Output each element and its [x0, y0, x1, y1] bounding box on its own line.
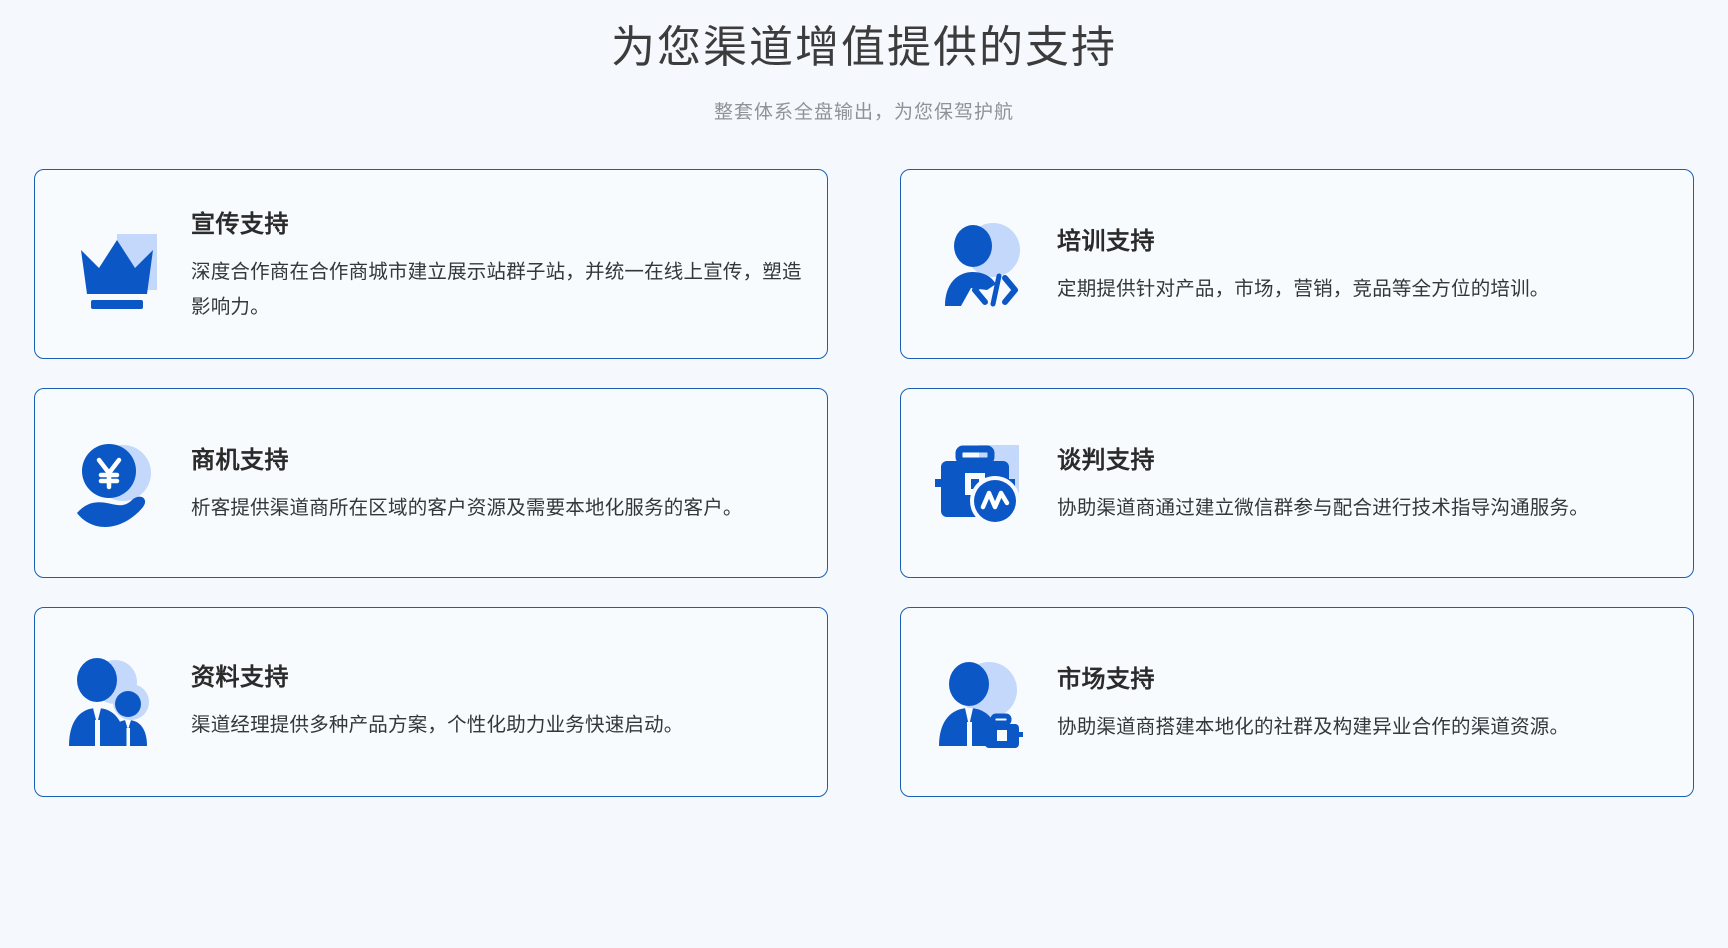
briefcase-chart-icon: [923, 428, 1043, 538]
card-description: 析客提供渠道商所在区域的客户资源及需要本地化服务的客户。: [191, 491, 803, 526]
support-card-text: 培训支持 定期提供针对产品，市场，营销，竞品等全方位的培训。: [1043, 221, 1675, 307]
card-title: 谈判支持: [1057, 440, 1669, 475]
card-description: 渠道经理提供多种产品方案，个性化助力业务快速启动。: [191, 708, 803, 743]
person-code-icon: [923, 209, 1043, 319]
card-title: 宣传支持: [191, 204, 803, 239]
support-card-market[interactable]: 市场支持 协助渠道商搭建本地化的社群及构建异业合作的渠道资源。: [900, 607, 1694, 797]
support-card-text: 谈判支持 协助渠道商通过建立微信群参与配合进行技术指导沟通服务。: [1043, 440, 1675, 526]
support-card-materials[interactable]: 资料支持 渠道经理提供多种产品方案，个性化助力业务快速启动。: [34, 607, 828, 797]
card-title: 培训支持: [1057, 221, 1669, 256]
page-title: 为您渠道增值提供的支持: [0, 20, 1728, 75]
card-description: 定期提供针对产品，市场，营销，竞品等全方位的培训。: [1057, 272, 1669, 307]
card-title: 商机支持: [191, 440, 803, 475]
card-title: 资料支持: [191, 657, 803, 692]
crown-icon: [57, 209, 177, 319]
support-card-text: 宣传支持 深度合作商在合作商城市建立展示站群子站，并统一在线上宣传，塑造影响力。: [177, 204, 809, 324]
card-description: 深度合作商在合作商城市建立展示站群子站，并统一在线上宣传，塑造影响力。: [191, 255, 803, 324]
card-title: 市场支持: [1057, 659, 1669, 694]
card-description: 协助渠道商通过建立微信群参与配合进行技术指导沟通服务。: [1057, 491, 1669, 526]
support-card-negotiation[interactable]: 谈判支持 协助渠道商通过建立微信群参与配合进行技术指导沟通服务。: [900, 388, 1694, 578]
support-card-grid: 宣传支持 深度合作商在合作商城市建立展示站群子站，并统一在线上宣传，塑造影响力。…: [0, 169, 1728, 797]
person-briefcase-icon: [923, 647, 1043, 757]
support-card-opportunity[interactable]: 商机支持 析客提供渠道商所在区域的客户资源及需要本地化服务的客户。: [34, 388, 828, 578]
two-people-icon: [57, 647, 177, 757]
page-subtitle: 整套体系全盘输出，为您保驾护航: [0, 97, 1728, 124]
support-card-text: 市场支持 协助渠道商搭建本地化的社群及构建异业合作的渠道资源。: [1043, 659, 1675, 745]
support-card-publicity[interactable]: 宣传支持 深度合作商在合作商城市建立展示站群子站，并统一在线上宣传，塑造影响力。: [34, 169, 828, 359]
support-card-text: 商机支持 析客提供渠道商所在区域的客户资源及需要本地化服务的客户。: [177, 440, 809, 526]
coin-in-hand-icon: [57, 428, 177, 538]
page-header: 为您渠道增值提供的支持 整套体系全盘输出，为您保驾护航: [0, 0, 1728, 124]
support-page: 为您渠道增值提供的支持 整套体系全盘输出，为您保驾护航 宣传支持 深度合作商在合…: [0, 0, 1728, 948]
support-card-training[interactable]: 培训支持 定期提供针对产品，市场，营销，竞品等全方位的培训。: [900, 169, 1694, 359]
card-description: 协助渠道商搭建本地化的社群及构建异业合作的渠道资源。: [1057, 710, 1669, 745]
support-card-text: 资料支持 渠道经理提供多种产品方案，个性化助力业务快速启动。: [177, 657, 809, 743]
